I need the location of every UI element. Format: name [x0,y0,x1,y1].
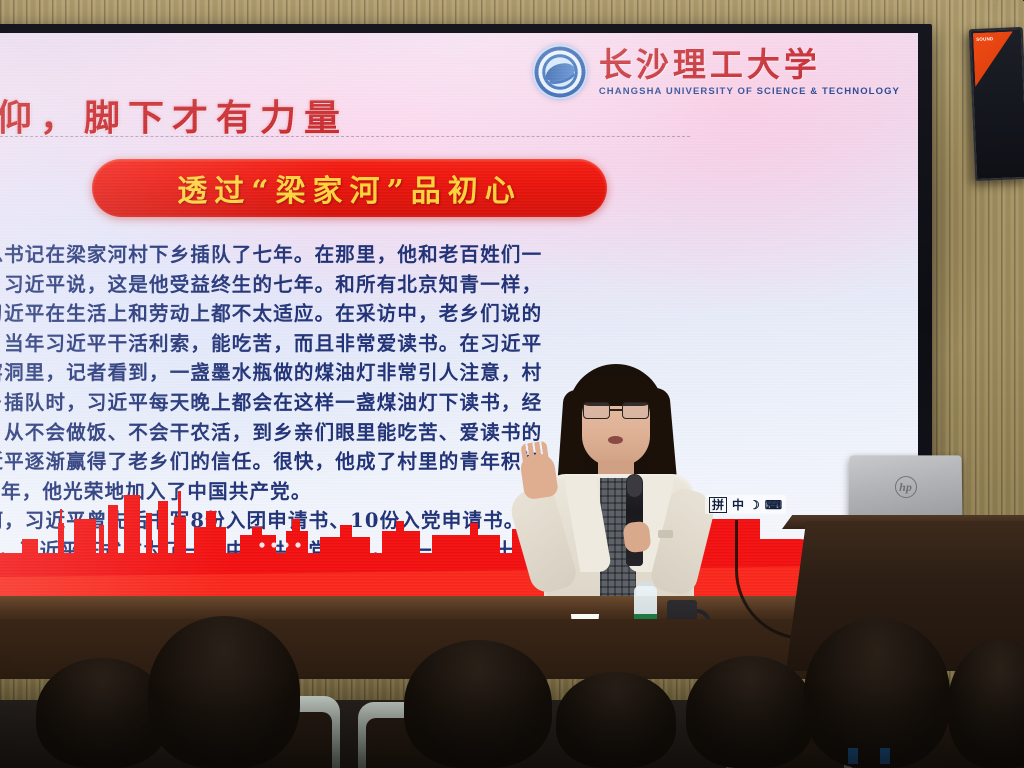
audience-head [804,618,950,768]
organization-logo-block: 长沙理工大学 CHANGSHA UNIVERSITY OF SCIENCE & … [533,45,900,99]
university-seal-icon [533,45,587,99]
university-name-en: CHANGSHA UNIVERSITY OF SCIENCE & TECHNOL… [599,86,900,97]
presenter-hand-holding-mic [623,521,652,554]
wall-speaker-icon: SOUND [969,27,1024,181]
audience-head [404,640,552,768]
ime-toolbar[interactable]: 拼 中 ☽ ⌨ [705,495,786,514]
speaker-label-line: SOUND [976,36,994,43]
title-divider [0,136,690,137]
audience-head [556,672,676,768]
slide-header: 信仰，脚下才有力量 长沙理工大学 CHANGSHA UNIVERSITY OF … [0,33,918,129]
university-name-cn: 长沙理工大学 [599,48,900,81]
body-line: 就是，当年习近平干活利索，能吃苦，而且非常爱读书。在习近平 [0,329,842,359]
hp-laptop[interactable]: hp [849,455,963,517]
speaker-brand-label: SOUND [973,31,1015,87]
audience-lanyard [840,748,898,764]
slide-banner-text: 透过“梁家河”品初心 [177,166,522,210]
eyeglasses-icon [582,402,650,419]
chinese-mode-icon[interactable]: 中 [732,496,744,513]
keyboard-icon[interactable]: ⌨ [765,498,782,512]
raised-open-hand [519,452,559,500]
hp-logo-icon: hp [894,476,916,498]
body-line: 奋斗。习近平说，这是他受益终生的七年。和所有北京知青一样， [0,270,842,300]
presenter-mouth [608,436,623,444]
wristwatch [658,530,673,538]
audience-head [148,616,300,768]
audience-head [686,656,814,768]
slide-banner: 透过“梁家河”品初心 [92,159,607,217]
body-line: 到的习近平在生活上和劳动上都不太适应。在采访中，老乡们说的 [0,299,842,329]
pinyin-mode-icon[interactable]: 拼 [709,497,727,513]
lecture-hall-scene: 信仰，脚下才有力量 长沙理工大学 CHANGSHA UNIVERSITY OF … [0,0,1024,768]
moon-icon[interactable]: ☽ [749,498,760,512]
slide-main-title: 信仰，脚下才有力量 [0,89,348,141]
body-line: 近平总书记在梁家河村下乡插队了七年。在那里，他和老百姓们一 [0,240,842,270]
